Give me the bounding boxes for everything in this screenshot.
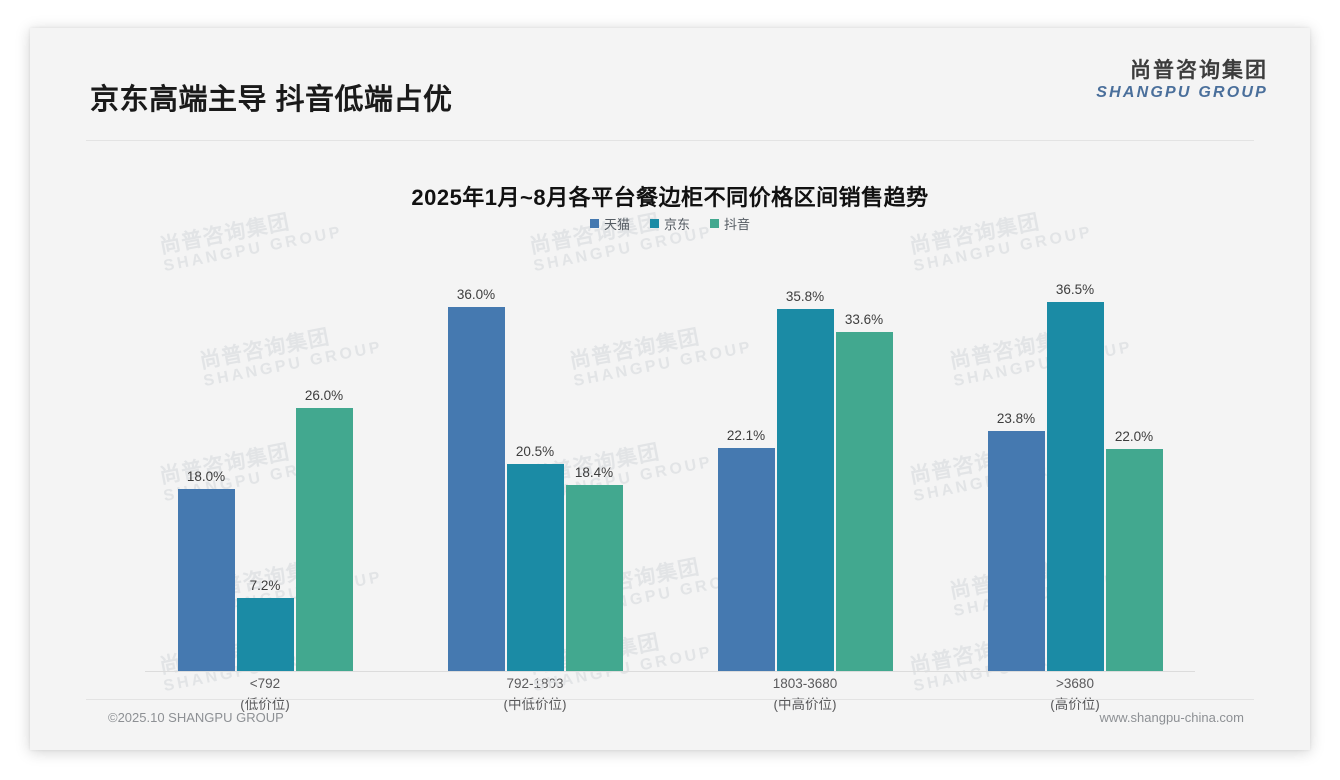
bar-rect[interactable] (566, 485, 623, 671)
bar-group-<792: 18.0%7.2%26.0% (130, 240, 400, 671)
bar-value-label: 36.5% (1056, 282, 1094, 297)
x-tick-792-1803: 792-1803(中低价位) (400, 674, 670, 716)
bar-value-label: 18.4% (575, 465, 613, 480)
bar-value-label: 22.0% (1115, 429, 1153, 444)
bar-天猫-792-1803[interactable]: 36.0% (448, 240, 505, 671)
bar-rect[interactable] (988, 431, 1045, 671)
bar-天猫-1803-3680[interactable]: 22.1% (718, 240, 775, 671)
bar-value-label: 23.8% (997, 411, 1035, 426)
legend-item-京东[interactable]: 京东 (650, 214, 690, 233)
bar-rect[interactable] (718, 448, 775, 671)
logo-chinese-name: 尚普咨询集团 (1096, 60, 1268, 81)
x-tick-range: <792 (130, 674, 400, 695)
footer-copyright: ©2025.10 SHANGPU GROUP (108, 710, 284, 725)
bar-京东-792-1803[interactable]: 20.5% (507, 240, 564, 671)
bar-抖音-<792[interactable]: 26.0% (296, 240, 353, 671)
x-tick-1803-3680: 1803-3680(中高价位) (670, 674, 940, 716)
legend-item-天猫[interactable]: 天猫 (590, 214, 630, 233)
bar-rect[interactable] (448, 307, 505, 671)
bar-value-label: 18.0% (187, 469, 225, 484)
bar-天猫->3680[interactable]: 23.8% (988, 240, 1045, 671)
x-axis-line (145, 671, 1195, 672)
company-logo: 尚普咨询集团 SHANGPU GROUP (1096, 60, 1268, 101)
bar-rect[interactable] (836, 332, 893, 671)
header-divider (86, 140, 1254, 141)
x-axis-tick-labels: <792(低价位)792-1803(中低价位)1803-3680(中高价位)>3… (130, 674, 1210, 716)
bar-value-label: 22.1% (727, 428, 765, 443)
bar-抖音->3680[interactable]: 22.0% (1106, 240, 1163, 671)
x-tick-range: >3680 (940, 674, 1210, 695)
page-title: 京东高端主导 抖音低端占优 (90, 76, 453, 118)
slide-canvas: 尚普咨询集团SHANGPU GROUP尚普咨询集团SHANGPU GROUP尚普… (30, 28, 1310, 750)
chart-title: 2025年1月~8月各平台餐边柜不同价格区间销售趋势 (30, 180, 1310, 212)
legend-swatch-icon (650, 219, 659, 228)
bar-rect[interactable] (1106, 449, 1163, 671)
bar-value-label: 26.0% (305, 388, 343, 403)
legend-label: 抖音 (724, 214, 750, 233)
bar-京东-1803-3680[interactable]: 35.8% (777, 240, 834, 671)
bar-京东-<792[interactable]: 7.2% (237, 240, 294, 671)
x-tick-range: 1803-3680 (670, 674, 940, 695)
bar-抖音-1803-3680[interactable]: 33.6% (836, 240, 893, 671)
bar-抖音-792-1803[interactable]: 18.4% (566, 240, 623, 671)
legend-swatch-icon (590, 219, 599, 228)
logo-english-name: SHANGPU GROUP (1096, 85, 1268, 101)
bar-group-792-1803: 36.0%20.5%18.4% (400, 240, 670, 671)
legend-label: 京东 (664, 214, 690, 233)
bar-value-label: 33.6% (845, 312, 883, 327)
bar-group->3680: 23.8%36.5%22.0% (940, 240, 1210, 671)
footer-divider (86, 699, 1254, 700)
bar-value-label: 7.2% (250, 578, 281, 593)
chart-plot-area: 18.0%7.2%26.0%36.0%20.5%18.4%22.1%35.8%3… (130, 240, 1210, 672)
bar-group-1803-3680: 22.1%35.8%33.6% (670, 240, 940, 671)
chart-legend: 天猫京东抖音 (30, 214, 1310, 233)
bar-天猫-<792[interactable]: 18.0% (178, 240, 235, 671)
bar-rect[interactable] (507, 464, 564, 671)
slide-header: 京东高端主导 抖音低端占优 尚普咨询集团 SHANGPU GROUP (30, 28, 1310, 120)
legend-swatch-icon (710, 219, 719, 228)
bar-京东->3680[interactable]: 36.5% (1047, 240, 1104, 671)
bar-rect[interactable] (296, 408, 353, 671)
x-tick-range: 792-1803 (400, 674, 670, 695)
bar-value-label: 36.0% (457, 287, 495, 302)
bar-rect[interactable] (777, 309, 834, 671)
bar-value-label: 20.5% (516, 444, 554, 459)
bar-rect[interactable] (178, 489, 235, 671)
bar-rect[interactable] (1047, 302, 1104, 671)
footer-website[interactable]: www.shangpu-china.com (1099, 710, 1244, 725)
bar-rect[interactable] (237, 598, 294, 671)
legend-item-抖音[interactable]: 抖音 (710, 214, 750, 233)
bar-groups: 18.0%7.2%26.0%36.0%20.5%18.4%22.1%35.8%3… (130, 240, 1210, 671)
bar-value-label: 35.8% (786, 289, 824, 304)
legend-label: 天猫 (604, 214, 630, 233)
